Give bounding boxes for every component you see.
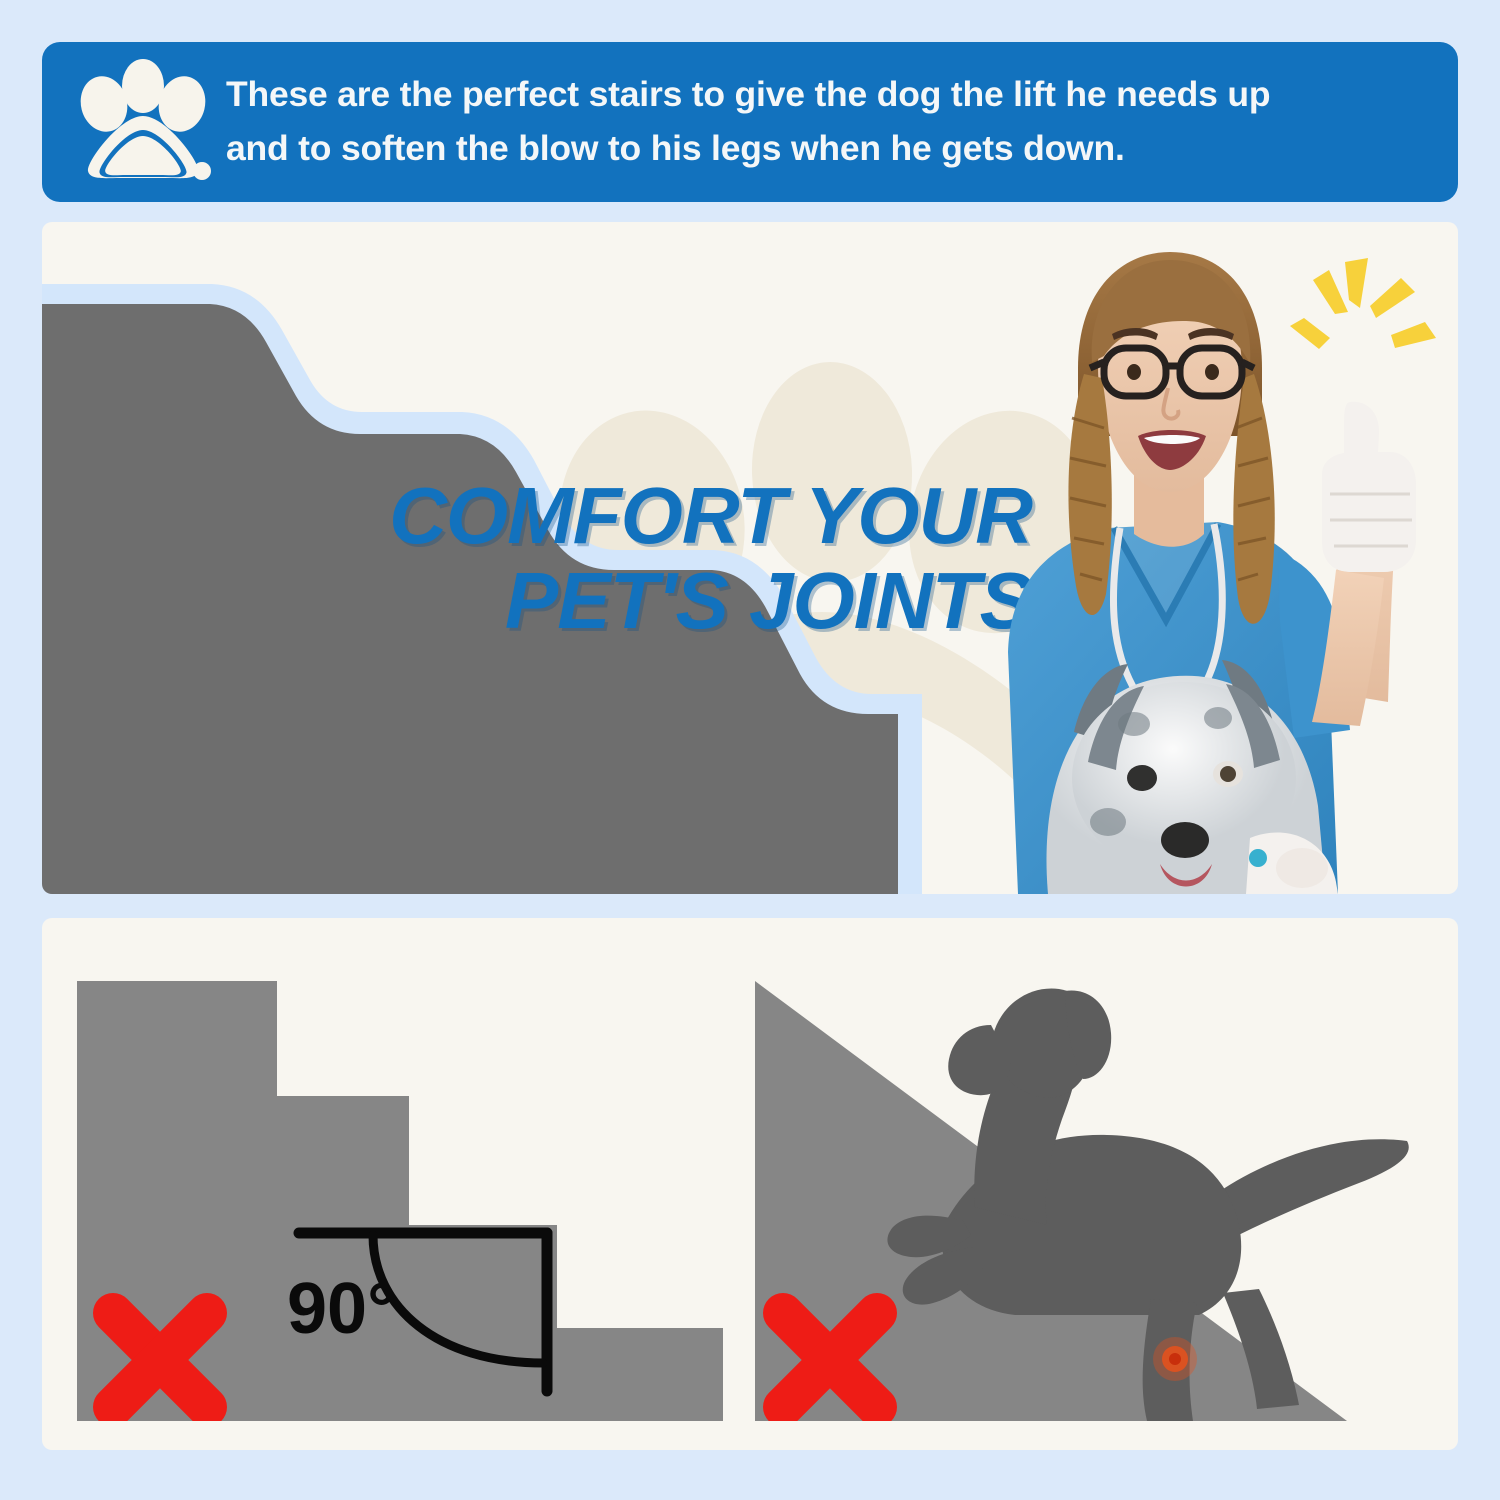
banner-line-1: These are the perfect stairs to give the…	[226, 68, 1270, 122]
infographic-page: These are the perfect stairs to give the…	[0, 0, 1500, 1500]
steep-step-illustration: 90°	[77, 963, 723, 1421]
banner-copy: These are the perfect stairs to give the…	[226, 68, 1270, 176]
paw-print-icon	[70, 58, 216, 186]
pain-spot-indicator	[1153, 1337, 1197, 1381]
banner-line-2: and to soften the blow to his legs when …	[226, 122, 1270, 176]
steep-ramp-illustration	[747, 963, 1423, 1421]
headline-banner: These are the perfect stairs to give the…	[42, 42, 1458, 202]
angle-label: 90°	[287, 1269, 396, 1349]
sparkle-icon	[1290, 258, 1436, 349]
veterinarian-photo	[898, 222, 1458, 894]
gloved-hand	[1322, 402, 1416, 572]
comparison-panel: 90°	[42, 918, 1458, 1450]
hero-panel: COMFORT YOUR PET'S JOINTS	[42, 222, 1458, 894]
